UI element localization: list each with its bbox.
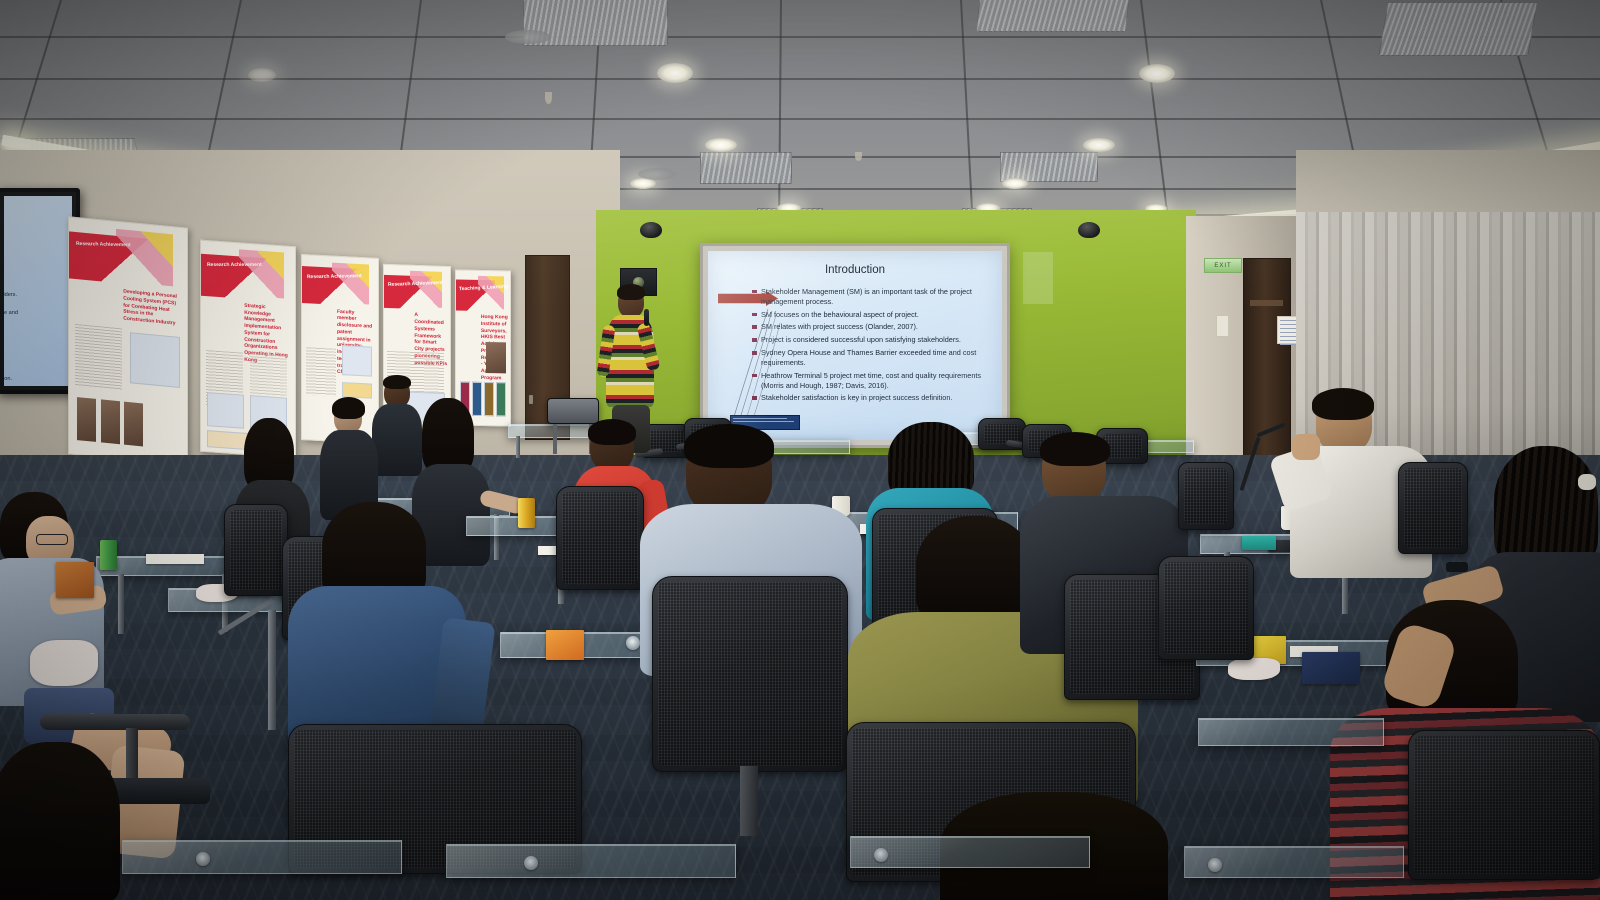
poster-body-text [75,324,122,390]
tv-slide-text: n important task of the [4,222,72,233]
drink-can [100,540,117,570]
tv-slide-text: s Barrier exceeded time and [4,308,72,319]
door-handle[interactable] [529,395,533,404]
exit-sign: EXIT [1204,258,1242,273]
dome-camera-icon [1078,222,1100,238]
food-wrapper [1228,658,1280,680]
hair [684,424,774,468]
right-wall-upper [1296,150,1600,216]
slide-bullet: Stakeholder satisfaction is key in proje… [752,393,994,403]
conference-room-photo: EXIT ion n important task of the ect of … [0,0,1600,900]
presenter-hair [617,284,645,300]
poster-banner-deco [478,276,504,310]
poster-banner-deco [116,229,173,286]
tv-screen: ion n important task of the ect of proje… [4,196,72,386]
desk [122,840,402,874]
poster-figure [342,345,372,376]
poster-photo [101,400,120,444]
slide-bullet: SM relates with project success (Olander… [752,322,994,332]
wall-notice-small [1216,315,1229,337]
navy-folder [1302,652,1360,684]
projection-screen: Introduction Stakeholder Management (SM)… [708,251,1002,440]
poster-photo [77,397,96,441]
wristwatch [1446,562,1468,572]
poster-banner-label: Research Achievement [206,262,261,270]
poster-banner-deco [239,250,284,299]
eyeglasses [36,534,68,545]
ceiling-downlight [1002,178,1028,189]
desk-leg [118,574,124,634]
slide-bullet: Project is considered successful upon sa… [752,335,994,345]
poster-banner-deco [410,271,442,309]
snack-box [546,630,584,660]
food-wrapper [30,640,98,686]
poster-figure [496,382,506,416]
notebook [1242,536,1276,550]
tv-slide-text: project success definition. [4,374,72,385]
tv-slide-text: ime, cost and quality [4,336,72,347]
ceiling-downlight [1139,64,1175,83]
poster-banner-deco [332,262,368,304]
hvac-diffuser [700,152,792,184]
cable-grommet [196,852,210,866]
snack-box-held [56,562,94,598]
dome-camera-icon [640,222,662,238]
cable-grommet [1208,858,1222,872]
desk [446,844,736,878]
cable-grommet [626,636,640,650]
slide-bullet: Sydney Opera House and Thames Barrier ex… [752,348,994,367]
door-push-bar[interactable] [1250,300,1283,306]
wall-panel [1023,252,1053,304]
desk [1198,718,1384,746]
hvac-diffuser [1378,2,1538,56]
poster-figure [207,392,245,428]
slide-bullet: Stakeholder Management (SM) is an import… [752,287,994,306]
hair [1494,446,1598,566]
slide-bullet: SM focuses on the behavioural aspect of … [752,310,994,320]
tv-slide-text: ect of project. [4,252,72,263]
ceiling-vent-round [638,168,676,180]
slide-bullet-list: Stakeholder Management (SM) is an import… [752,287,994,406]
poster-figure [472,382,482,416]
ceiling-downlight [657,63,693,83]
poster-body-text [250,353,288,398]
cable-grommet [874,848,888,862]
slide-title: Introduction [708,264,1002,276]
hair [588,419,636,445]
hair [1040,432,1110,466]
poster-figure [130,332,180,389]
tv-slide-text: pon satisfying stakeholders. [4,290,72,301]
hair-clip [1578,474,1596,490]
poster-title: Developing a Personal Cooling System (PC… [123,289,182,328]
tv-slide-text: 1987; Davis, 2016). [4,352,72,363]
sprinkler-head [545,92,552,104]
handheld-microphone[interactable] [644,309,649,326]
poster-photo [486,342,507,373]
ceiling-downlight [705,138,737,152]
smoke-detector [505,30,551,44]
poster-photo [124,402,143,446]
slide-bullet: Heathrow Terminal 5 project met time, co… [752,371,994,390]
poster-body-text [306,347,336,396]
poster-figure [484,382,494,416]
desk-leg [268,610,276,730]
ceiling-downlight [248,68,276,82]
hands-clasped [1292,434,1320,460]
cable-grommet [524,856,538,870]
paper-sheet [146,554,204,564]
hair [916,516,1034,624]
poster-banner-label: Research Achievement [306,273,361,281]
projection-screen-frame: Introduction Stakeholder Management (SM)… [700,243,1010,448]
tv-slide-text: lander, 2007). [4,270,72,281]
hair [1312,388,1374,420]
research-poster: Research Achievement Developing a Person… [68,216,188,466]
desk-leg [516,436,520,458]
hvac-diffuser [976,0,1130,32]
sprinkler-head [855,152,862,161]
ceiling-downlight [1083,138,1115,152]
drink-can [518,498,535,528]
